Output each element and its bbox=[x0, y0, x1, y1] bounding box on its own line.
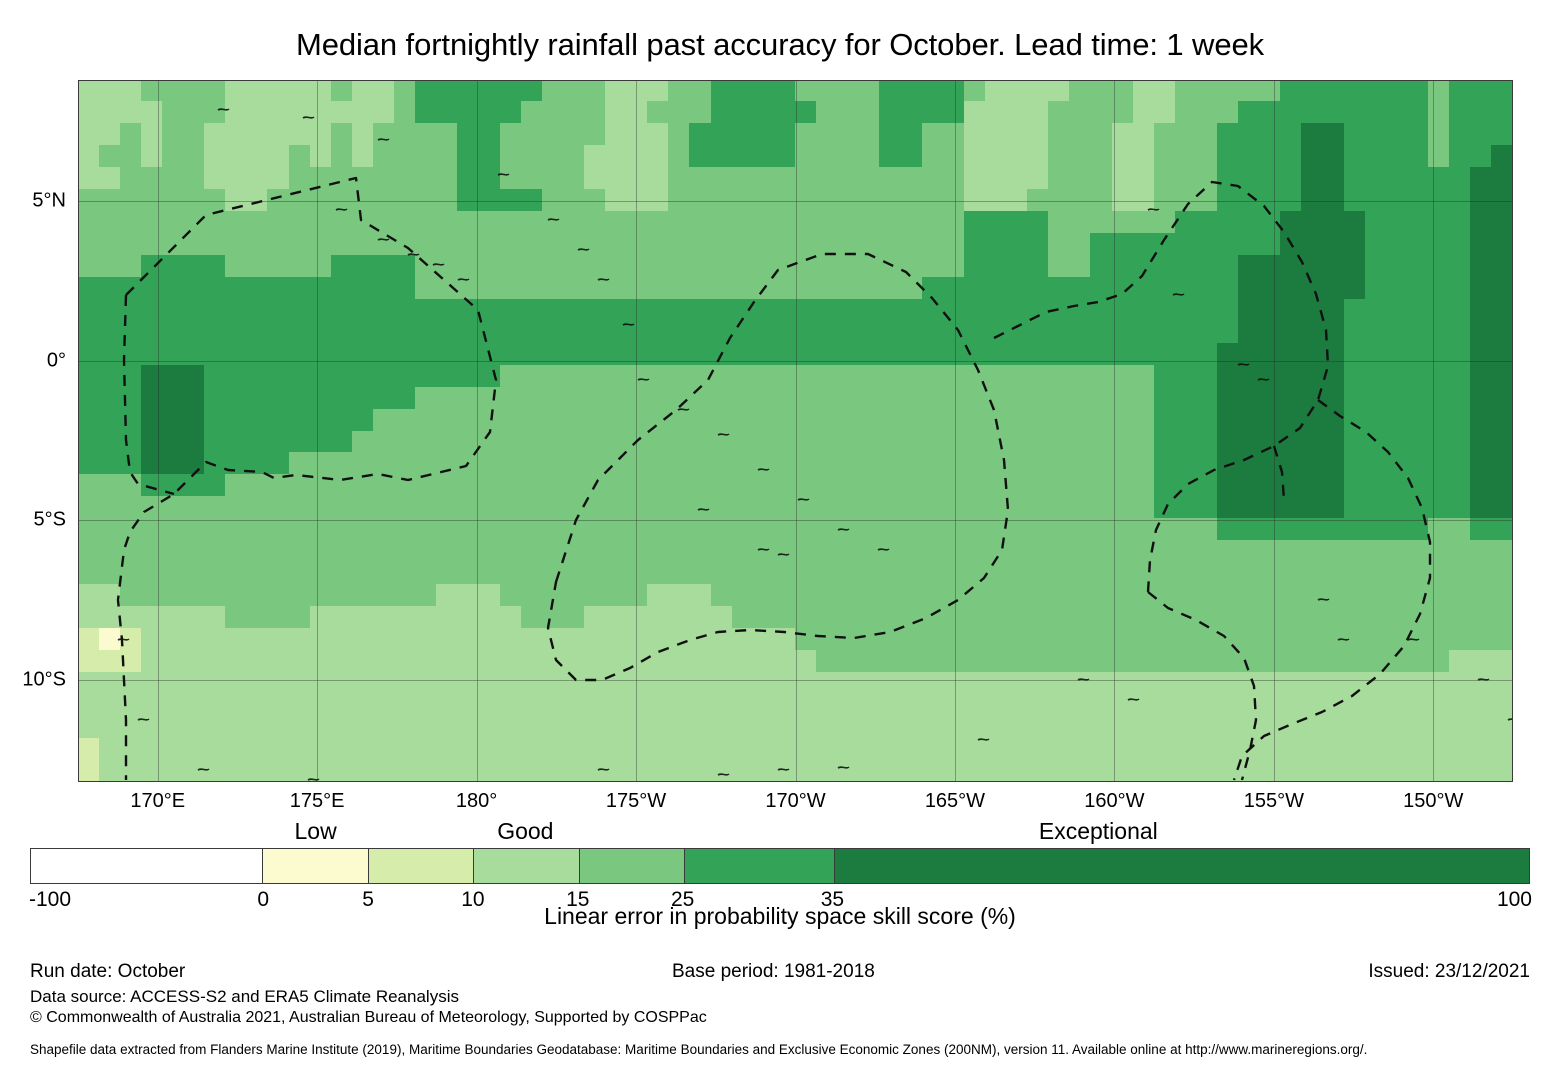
y-axis-tick-label: 5°N bbox=[32, 190, 66, 213]
colorbar-segment[interactable] bbox=[579, 849, 684, 883]
y-axis-tick-label: 0° bbox=[47, 349, 66, 372]
x-axis-tick-label: 150°W bbox=[1403, 790, 1463, 813]
footer-run-date: Run date: October bbox=[30, 961, 185, 983]
colorbar-axis-label: Linear error in probability space skill … bbox=[0, 903, 1560, 930]
y-axis-tick-label: 10°S bbox=[22, 668, 66, 691]
colorbar-segment[interactable] bbox=[31, 849, 262, 883]
x-axis-tick-label: 170°W bbox=[765, 790, 825, 813]
colorbar-wrapper[interactable] bbox=[30, 848, 1530, 884]
x-axis-tick-label: 160°W bbox=[1084, 790, 1144, 813]
footer-issued-date: Issued: 23/12/2021 bbox=[1368, 961, 1530, 983]
x-axis-tick-label: 155°W bbox=[1244, 790, 1304, 813]
map-plot-area[interactable] bbox=[78, 80, 1513, 782]
colorbar-category-label: Exceptional bbox=[1039, 818, 1158, 845]
colorbar-segment[interactable] bbox=[834, 849, 1529, 883]
y-axis-tick-label: 5°S bbox=[34, 509, 66, 532]
colorbar-category-label: Good bbox=[497, 818, 553, 845]
footer-copyright: © Commonwealth of Australia 2021, Austra… bbox=[30, 1009, 707, 1027]
rainfall-skill-heatmap bbox=[78, 80, 1513, 782]
colorbar-segment[interactable] bbox=[684, 849, 834, 883]
x-axis-tick-label: 165°W bbox=[925, 790, 985, 813]
colorbar-segment[interactable] bbox=[262, 849, 367, 883]
footer-base-period: Base period: 1981-2018 bbox=[672, 961, 875, 983]
x-axis-tick-label: 175°E bbox=[290, 790, 345, 813]
colorbar-segment[interactable] bbox=[368, 849, 473, 883]
figure-root: Median fortnightly rainfall past accurac… bbox=[0, 0, 1560, 1065]
x-axis-tick-label: 180° bbox=[456, 790, 497, 813]
footer-data-source: Data source: ACCESS-S2 and ERA5 Climate … bbox=[30, 987, 459, 1007]
x-axis-tick-label: 175°W bbox=[606, 790, 666, 813]
footer-shapefile-note: Shapefile data extracted from Flanders M… bbox=[30, 1042, 1367, 1057]
colorbar[interactable] bbox=[30, 848, 1530, 884]
colorbar-segment[interactable] bbox=[473, 849, 578, 883]
chart-title: Median fortnightly rainfall past accurac… bbox=[0, 27, 1560, 63]
x-axis-tick-label: 170°E bbox=[130, 790, 185, 813]
colorbar-category-label: Low bbox=[295, 818, 337, 845]
